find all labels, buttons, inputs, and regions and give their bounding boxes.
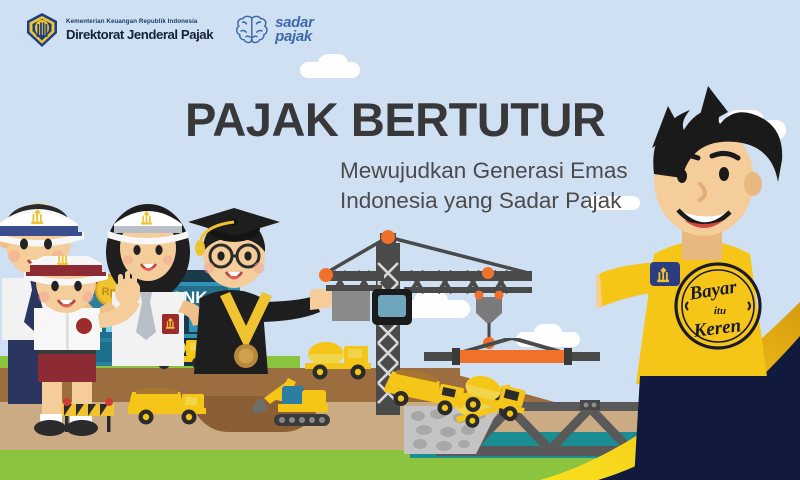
road-barricade <box>60 396 116 432</box>
cement-mixer-truck-right <box>452 376 530 420</box>
subtitle-line-2: Indonesia yang Sadar Pajak <box>340 186 628 216</box>
sadar-pajak-logo: sadar pajak <box>235 14 314 46</box>
cement-mixer-truck-slope <box>300 340 378 382</box>
subtitle-line-1: Mewujudkan Generasi Emas <box>340 156 628 186</box>
djp-directorate-line: Direktorat Jenderal Pajak <box>66 28 213 41</box>
djp-seal-icon <box>25 12 59 48</box>
young-man-pointing: Bayar itu Keren <box>596 76 800 480</box>
sadar-logo-line2: pajak <box>275 30 314 44</box>
page-title: PAJAK BERTUTUR <box>185 96 605 143</box>
djp-ministry-line: Kementerian Keuangan Republik Indonesia <box>66 19 213 26</box>
svg-text:itu: itu <box>714 305 726 317</box>
djp-logo: Kementerian Keuangan Republik Indonesia … <box>25 12 213 48</box>
page-subtitle: Mewujudkan Generasi Emas Indonesia yang … <box>340 156 628 216</box>
poster-canvas: Kementerian Keuangan Republik Indonesia … <box>0 0 800 480</box>
cloud-1b <box>318 54 348 74</box>
dump-truck-left <box>126 386 208 426</box>
header-logos: Kementerian Keuangan Republik Indonesia … <box>25 12 314 48</box>
brain-icon <box>235 14 269 46</box>
